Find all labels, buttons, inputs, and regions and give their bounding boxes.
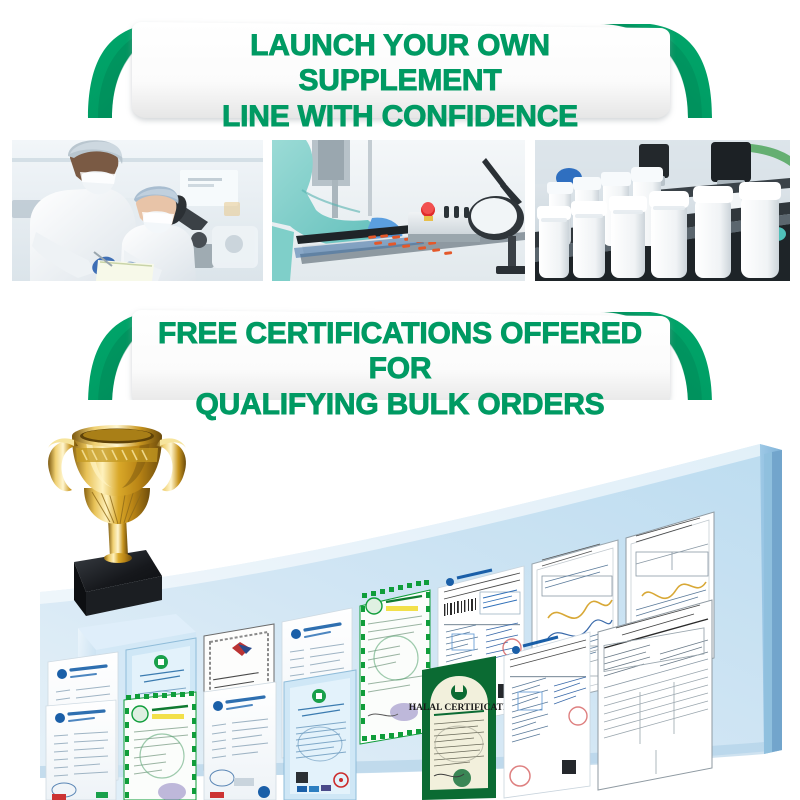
lab-scientists-illustration (12, 140, 263, 281)
banner-launch: LAUNCH YOUR OWN SUPPLEMENT LINE WITH CON… (0, 8, 800, 126)
page-root: LAUNCH YOUR OWN SUPPLEMENT LINE WITH CON… (0, 0, 800, 800)
capsule-inspection-illustration (272, 140, 525, 281)
cert-halal-green-dotted (360, 580, 430, 744)
halal-title: HALAL CERTIFICATE (409, 703, 510, 713)
cert-organic-green-dotted (124, 691, 196, 800)
cert-halal-certificate: HALAL CERTIFICATE (409, 656, 510, 800)
cert-wall-illustration: Guangzhou Habeikang (0, 400, 800, 800)
cert-lab-test-report-2 (504, 632, 590, 798)
certificate-display-wall: Guangzhou Habeikang (0, 400, 800, 800)
cert-haccp-food-safety-2 (284, 670, 356, 800)
banner-title: FREE CERTIFICATIONS OFFERED FOR QUALIFYI… (150, 316, 650, 422)
bottling-line-illustration (535, 140, 790, 281)
photo-capsule-inspection (272, 140, 525, 281)
cert-certificate-of-conformity-4 (204, 682, 276, 800)
banner-certifications: FREE CERTIFICATIONS OFFERED FOR QUALIFYI… (0, 296, 800, 414)
photo-lab-scientists (12, 140, 263, 281)
banner-title: LAUNCH YOUR OWN SUPPLEMENT LINE WITH CON… (150, 28, 650, 134)
photo-bottling-line (535, 140, 790, 281)
cert-certificate-of-conformity-3b (46, 700, 116, 800)
cert-invoice-sheet (598, 600, 712, 790)
